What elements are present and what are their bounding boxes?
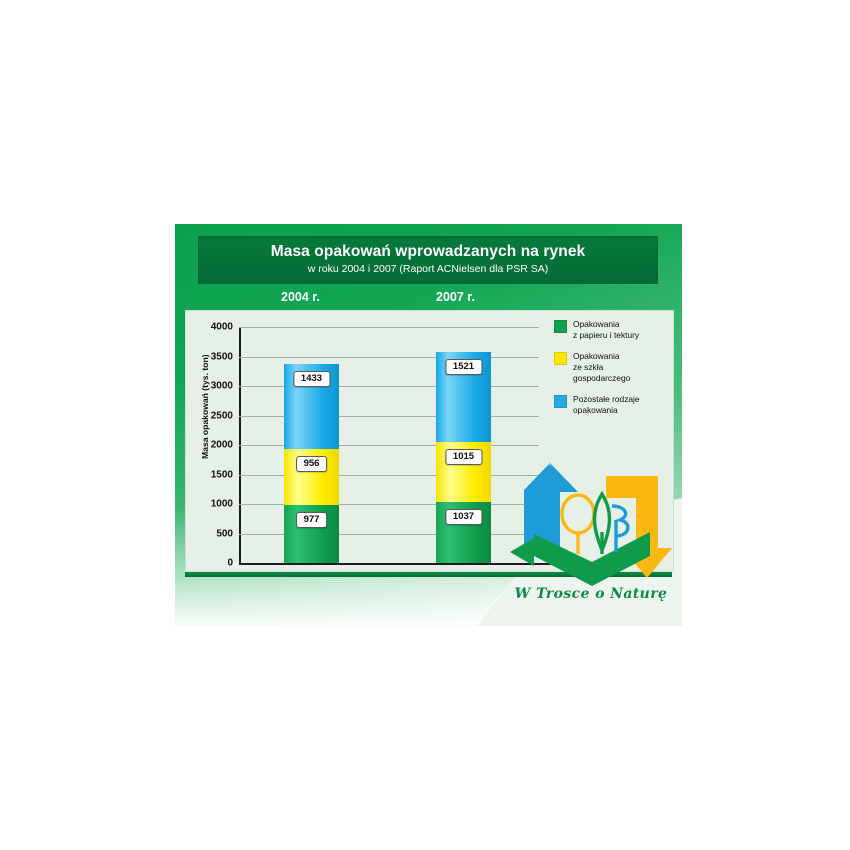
- legend-swatch-icon: [554, 395, 567, 408]
- y-axis-tick-label: 2000: [211, 440, 233, 451]
- y-axis-tick-label: 500: [216, 528, 233, 539]
- legend-swatch-icon: [554, 352, 567, 365]
- y-axis-tick-label: 2500: [211, 410, 233, 421]
- bar-segment[interactable]: 1037: [436, 502, 491, 563]
- bar-segment[interactable]: 977: [284, 505, 339, 563]
- bar-segment[interactable]: 1433: [284, 364, 339, 449]
- y-axis-tick-label: 1000: [211, 499, 233, 510]
- psr-recycling-logo: W Trosce o Naturę: [508, 460, 674, 622]
- legend-item[interactable]: Opakowaniaz papieru i tektury: [554, 319, 662, 342]
- y-axis-tick-label: 3500: [211, 351, 233, 362]
- legend-label: Opakowaniaze szkłagospodarczego: [573, 351, 630, 385]
- legend-label: Pozostałe rodzajeopakowania: [573, 394, 640, 417]
- y-axis-tick-label: 4000: [211, 322, 233, 333]
- y-axis-tick-label: 3000: [211, 381, 233, 392]
- legend-swatch-icon: [554, 320, 567, 333]
- recycling-arrows-icon: [508, 460, 674, 590]
- infographic-poster: Masa opakowań wprowadzanych na rynek w r…: [175, 224, 682, 626]
- gridline: [239, 327, 539, 328]
- bar-value-label: 1015: [445, 449, 482, 465]
- legend-item[interactable]: Pozostałe rodzajeopakowania: [554, 394, 662, 417]
- stacked-bar[interactable]: 1433956977: [284, 364, 339, 563]
- bar-value-label: 1433: [293, 371, 330, 387]
- title-banner: Masa opakowań wprowadzanych na rynek w r…: [198, 236, 658, 284]
- bar-segment[interactable]: 1015: [436, 442, 491, 502]
- gridline: [239, 357, 539, 358]
- bar-segment[interactable]: 956: [284, 449, 339, 505]
- y-axis-tick-label: 1500: [211, 469, 233, 480]
- year-label-2004: 2004 r.: [281, 290, 320, 304]
- year-label-2007: 2007 r.: [436, 290, 475, 304]
- y-axis-tick-label: 0: [227, 558, 233, 569]
- bar-segment[interactable]: 1521: [436, 352, 491, 442]
- legend-item[interactable]: Opakowaniaze szkłagospodarczego: [554, 351, 662, 385]
- logo-motto: W Trosce o Naturę: [508, 586, 674, 602]
- page-subtitle: w roku 2004 i 2007 (Raport ACNielsen dla…: [308, 263, 548, 277]
- bar-value-label: 1037: [445, 509, 482, 525]
- chart-legend: Opakowaniaz papieru i tekturyOpakowaniaz…: [554, 319, 662, 425]
- stacked-bar[interactable]: 152110151037: [436, 352, 491, 563]
- bar-value-label: 1521: [445, 359, 482, 375]
- screenshot-canvas: Masa opakowań wprowadzanych na rynek w r…: [0, 0, 850, 850]
- bar-value-label: 977: [296, 512, 328, 528]
- y-axis-title: Masa opakowań (tys. ton): [200, 354, 210, 459]
- legend-label: Opakowaniaz papieru i tektury: [573, 319, 639, 342]
- bar-value-label: 956: [296, 456, 328, 472]
- page-title: Masa opakowań wprowadzanych na rynek: [271, 243, 586, 260]
